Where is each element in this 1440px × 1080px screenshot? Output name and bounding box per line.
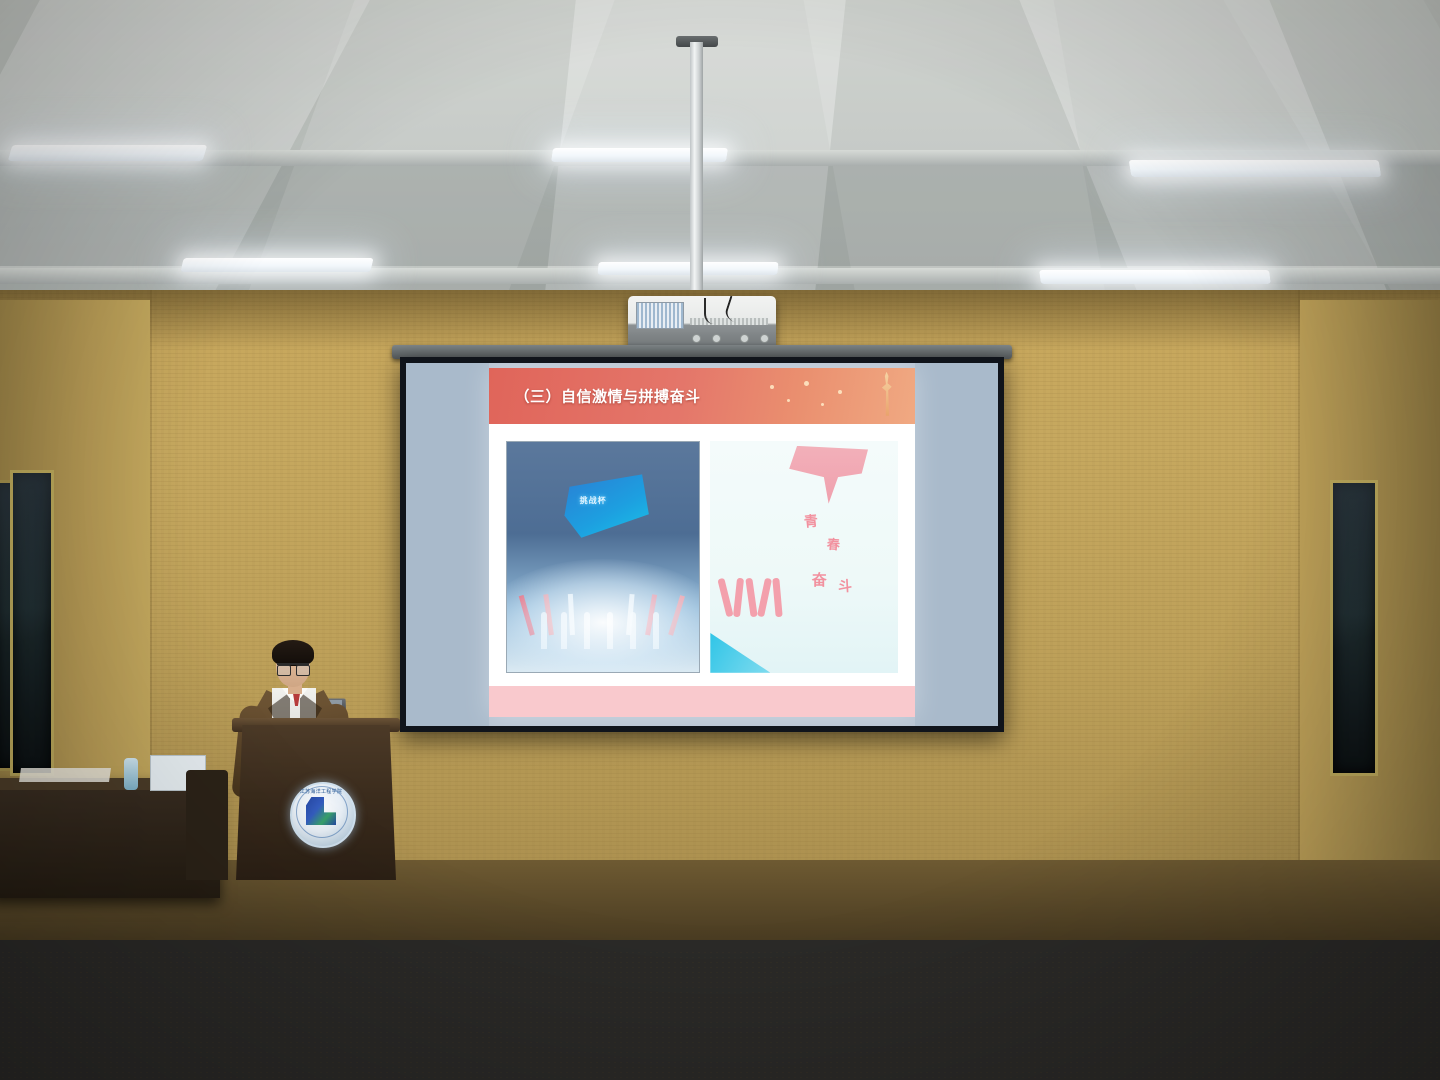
projector-mount-pole bbox=[690, 42, 703, 304]
window-left bbox=[10, 470, 54, 776]
table-water-bottle bbox=[124, 758, 138, 790]
ceiling-light-fixture bbox=[1129, 160, 1382, 177]
ceiling-shadow bbox=[0, 166, 1440, 266]
screen-letterbox-right bbox=[915, 363, 998, 726]
projection-screen: （三）自信激情与拼搏奋斗 bbox=[400, 357, 1004, 732]
slide-image-crowd: 挑战杯 bbox=[506, 441, 700, 673]
presentation-slide: （三）自信激情与拼搏奋斗 bbox=[489, 368, 915, 716]
ceiling-light-fixture bbox=[597, 262, 778, 275]
poster-character: 青 bbox=[803, 510, 819, 531]
poster-blue-wedge bbox=[710, 622, 770, 673]
poster-character: 春 bbox=[826, 533, 840, 553]
window-right bbox=[1330, 480, 1378, 776]
slide-banner-shape: 挑战杯 bbox=[564, 474, 648, 543]
glasses-icon bbox=[277, 663, 309, 674]
slide-body: 挑战杯 青 春 奋 斗 bbox=[489, 424, 915, 685]
projector-knob bbox=[692, 334, 701, 343]
screen-letterbox-left bbox=[406, 363, 489, 726]
projector-knob bbox=[760, 334, 769, 343]
poster-character: 奋 bbox=[812, 569, 827, 590]
slide-header-band: （三）自信激情与拼搏奋斗 bbox=[489, 368, 915, 424]
projector-knob bbox=[740, 334, 749, 343]
slide-footer-band bbox=[489, 686, 915, 717]
lecture-hall-photo: （三）自信激情与拼搏奋斗 bbox=[0, 0, 1440, 1080]
ceiling-light-fixture bbox=[1039, 270, 1271, 284]
slide-banner-text: 挑战杯 bbox=[580, 495, 607, 506]
poster-character: 斗 bbox=[837, 575, 852, 596]
screen-surface: （三）自信激情与拼搏奋斗 bbox=[406, 363, 998, 726]
emblem-text: 江苏海洋工程学院 bbox=[298, 788, 344, 795]
projector-knob bbox=[712, 334, 721, 343]
projector-cable bbox=[704, 298, 728, 324]
audience-area bbox=[0, 840, 1440, 1080]
slide-title: （三）自信激情与拼搏奋斗 bbox=[514, 386, 700, 407]
projector-vent-grille bbox=[636, 302, 684, 329]
slide-stage-glow bbox=[506, 559, 700, 672]
poster-red-shape bbox=[789, 446, 868, 506]
slide-decorative-figure-icon bbox=[880, 372, 894, 416]
slide-image-youth-poster: 青 春 奋 斗 bbox=[710, 441, 898, 673]
ceiling-light-fixture bbox=[180, 258, 373, 272]
table-papers bbox=[19, 768, 111, 782]
ceiling-light-fixture bbox=[8, 145, 208, 161]
